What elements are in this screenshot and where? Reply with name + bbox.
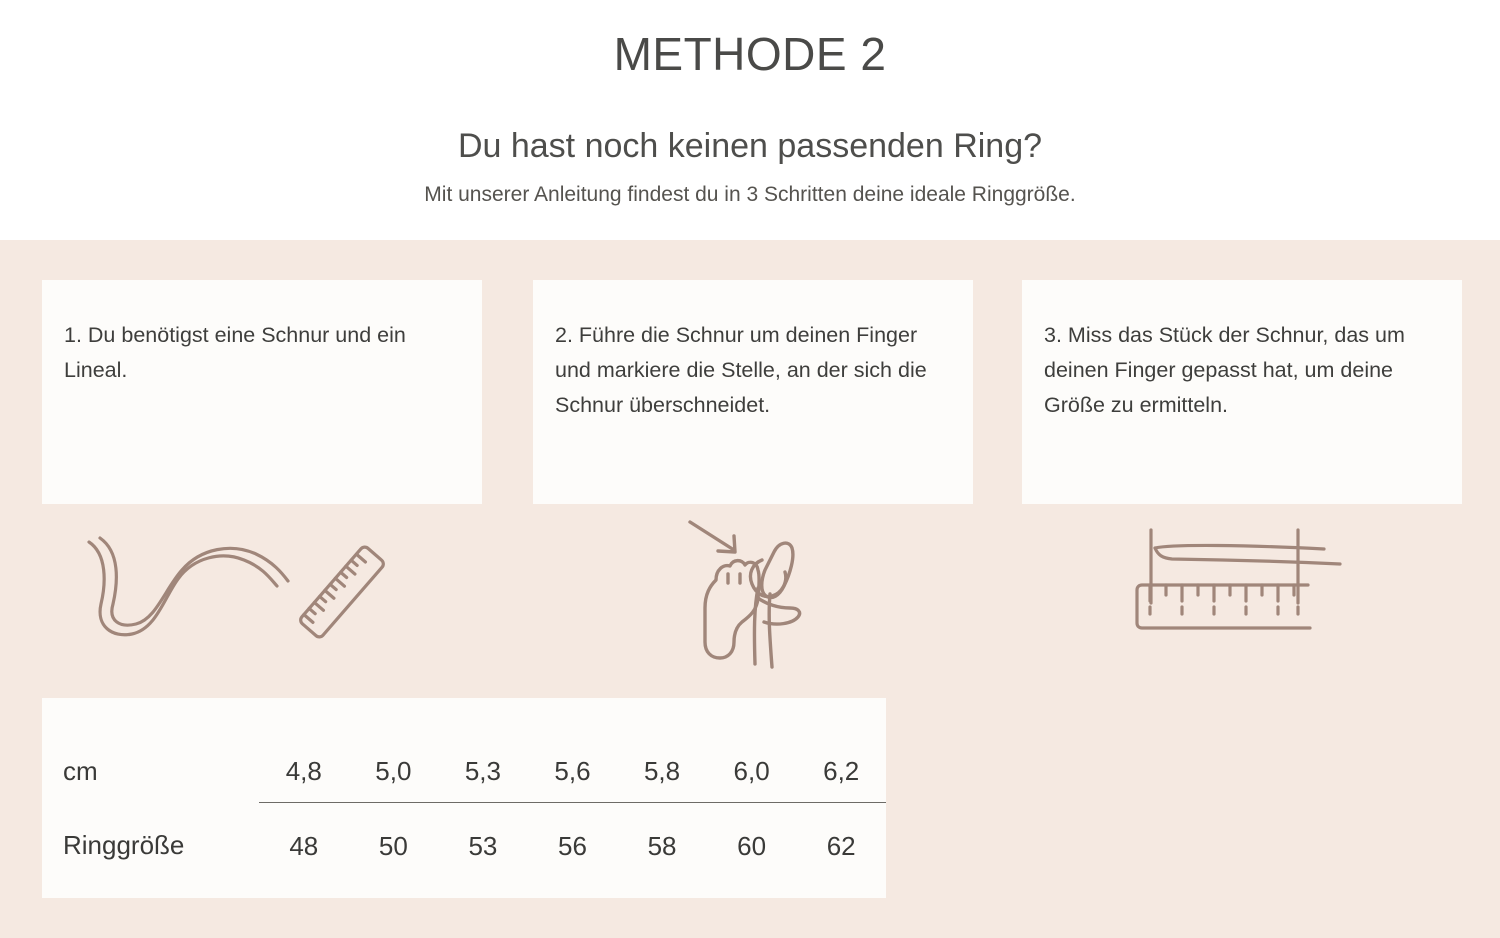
step-1-text: 1. Du benötigst eine Schnur und ein Line… xyxy=(64,318,456,388)
cell-cm-2: 5,3 xyxy=(438,698,528,803)
cell-ring-5: 60 xyxy=(707,803,797,878)
step-card-2: 2. Führe die Schnur um deinen Finger und… xyxy=(533,280,973,504)
ruler-measuring-string-svg xyxy=(1128,528,1358,648)
string-and-ruler-icon xyxy=(70,520,410,665)
cell-ring-1: 50 xyxy=(349,803,439,878)
page-lead-text: Mit unserer Anleitung findest du in 3 Sc… xyxy=(0,181,1500,208)
cell-cm-4: 5,8 xyxy=(617,698,707,803)
size-table: cm 4,8 5,0 5,3 5,6 5,8 6,0 6,2 Ringgröße… xyxy=(42,698,886,877)
step-2-text: 2. Führe die Schnur um deinen Finger und… xyxy=(555,318,947,422)
string-and-ruler-svg xyxy=(70,520,410,660)
step-3-text: 3. Miss das Stück der Schnur, das um dei… xyxy=(1044,318,1436,422)
cell-ring-2: 53 xyxy=(438,803,528,878)
cell-cm-6: 6,2 xyxy=(796,698,886,803)
ruler-measuring-string-icon xyxy=(1128,528,1358,653)
row-label-ringgroesse: Ringgröße xyxy=(42,803,259,878)
cell-cm-0: 4,8 xyxy=(259,698,349,803)
hand-with-string-svg xyxy=(678,512,823,672)
hand-with-string-icon xyxy=(678,512,823,677)
cell-ring-3: 56 xyxy=(528,803,618,878)
step-card-1: 1. Du benötigst eine Schnur und ein Line… xyxy=(42,280,482,504)
step-card-3: 3. Miss das Stück der Schnur, das um dei… xyxy=(1022,280,1462,504)
cell-ring-0: 48 xyxy=(259,803,349,878)
cell-cm-3: 5,6 xyxy=(528,698,618,803)
ruler-shape xyxy=(299,545,386,639)
cell-cm-5: 6,0 xyxy=(707,698,797,803)
header-band: METHODE 2 Du hast noch keinen passenden … xyxy=(0,0,1500,240)
cell-cm-1: 5,0 xyxy=(349,698,439,803)
cell-ring-4: 58 xyxy=(617,803,707,878)
page-subtitle: Du hast noch keinen passenden Ring? xyxy=(0,126,1500,167)
table-row-cm: cm 4,8 5,0 5,3 5,6 5,8 6,0 6,2 xyxy=(42,698,886,803)
page-title: METHODE 2 xyxy=(0,28,1500,81)
ring-size-guide-page: METHODE 2 Du hast noch keinen passenden … xyxy=(0,0,1500,938)
size-table-panel: cm 4,8 5,0 5,3 5,6 5,8 6,0 6,2 Ringgröße… xyxy=(42,698,886,898)
row-label-cm: cm xyxy=(42,698,259,803)
cell-ring-6: 62 xyxy=(796,803,886,878)
arrow-icon xyxy=(690,522,735,552)
table-row-ringgroesse: Ringgröße 48 50 53 56 58 60 62 xyxy=(42,803,886,878)
